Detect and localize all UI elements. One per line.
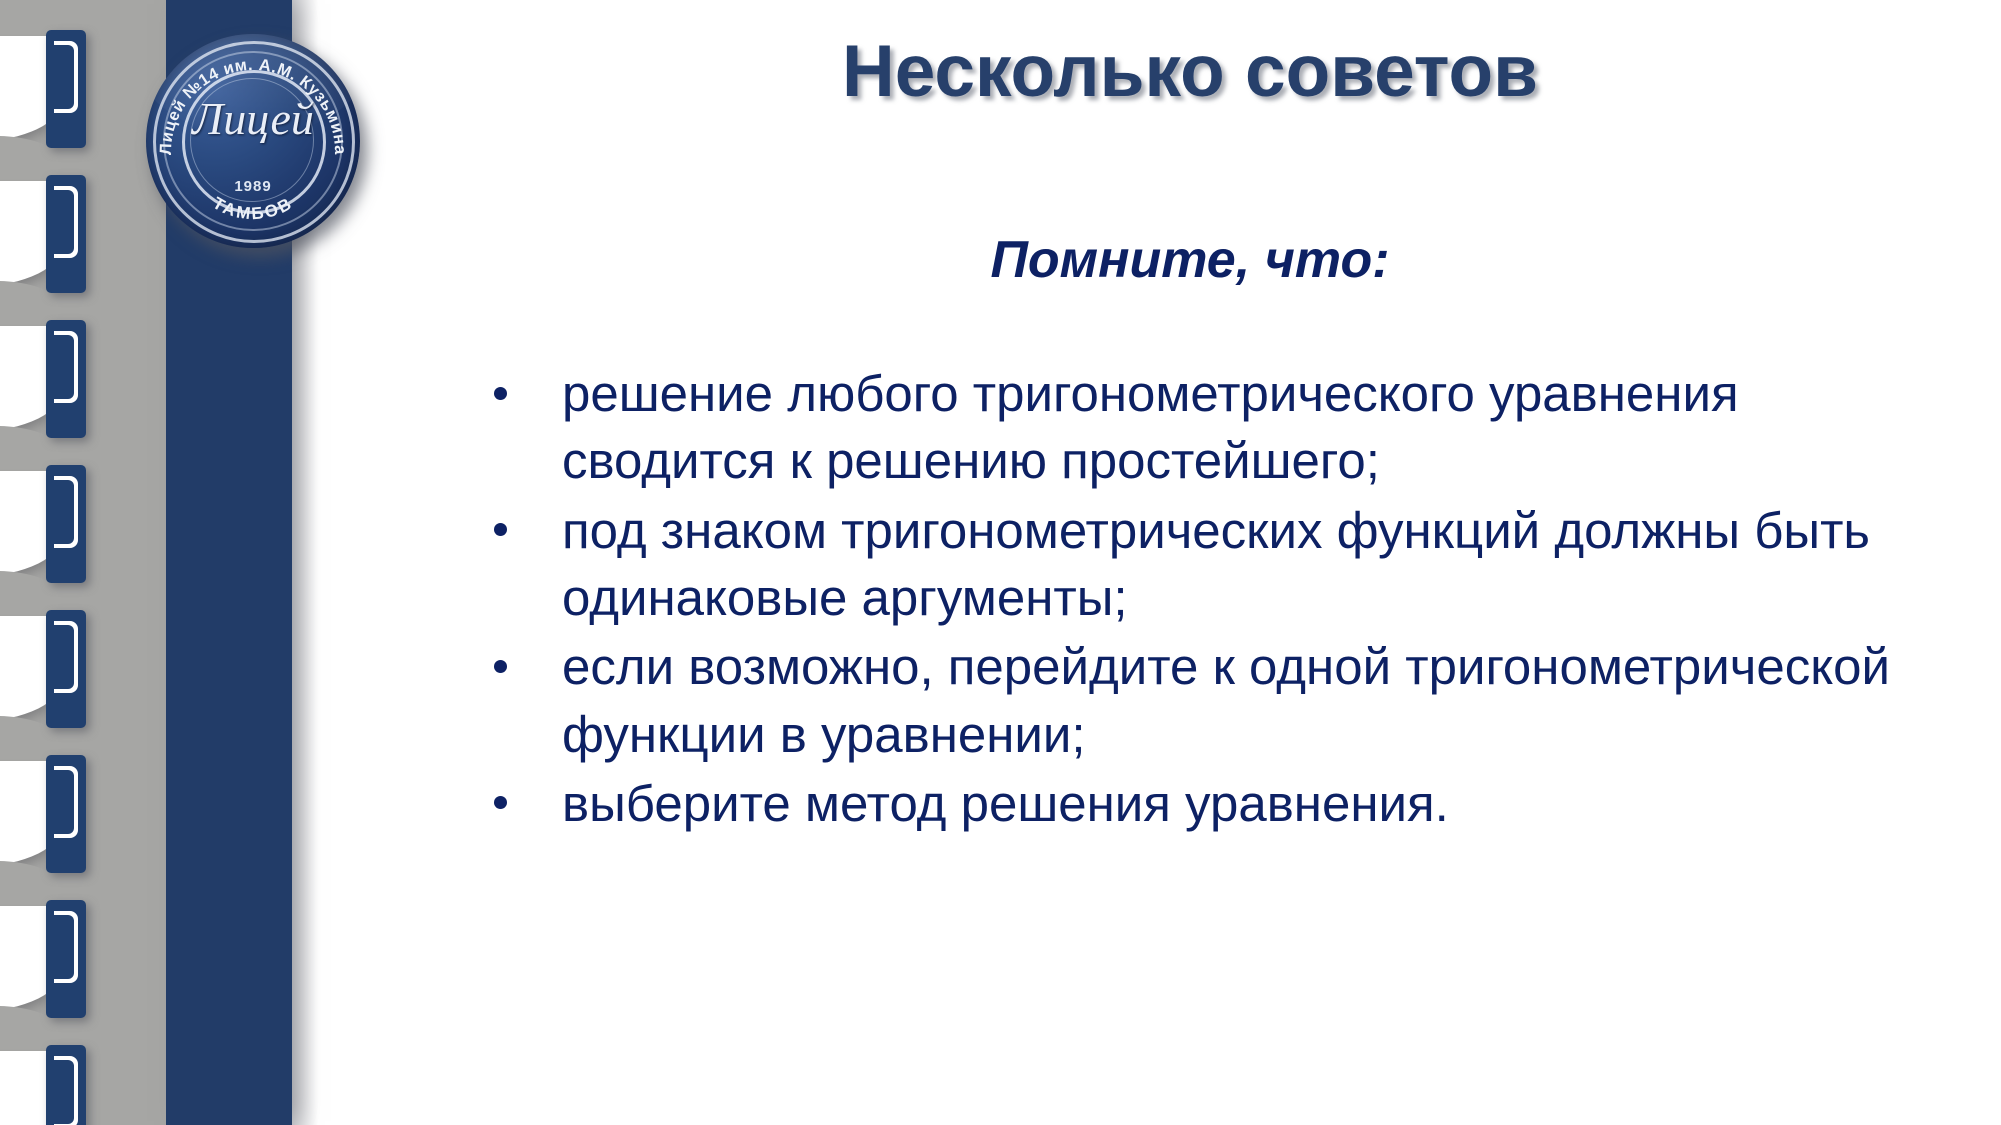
presentation-slide: Лицей №14 им. А.М. Кузьмина ТАМБОВ Лицей… bbox=[0, 0, 2001, 1125]
list-item-text: под знаком тригонометрических функций до… bbox=[562, 502, 1870, 626]
list-item-text: если возможно, перейдите к одной тригоно… bbox=[562, 638, 1890, 762]
binding-ring-icon bbox=[0, 181, 92, 285]
binding-ring-icon bbox=[0, 761, 92, 865]
binding-ring-icon bbox=[0, 906, 92, 1010]
list-item-text: выберите метод решения уравнения. bbox=[562, 775, 1449, 832]
list-item: решение любого тригонометрического уравн… bbox=[478, 360, 1898, 495]
emblem-script-word: Лицей bbox=[146, 96, 360, 142]
emblem-year: 1989 bbox=[146, 178, 360, 195]
list-item: если возможно, перейдите к одной тригоно… bbox=[478, 633, 1898, 768]
bullet-dot-icon bbox=[494, 387, 507, 400]
emblem-bottom-text: ТАМБОВ bbox=[210, 193, 297, 223]
bullet-dot-icon bbox=[494, 796, 507, 809]
binding-ring-icon bbox=[0, 1051, 92, 1125]
binding-ring-icon bbox=[0, 616, 92, 720]
binding-ring-icon bbox=[0, 326, 92, 430]
binding-rings bbox=[0, 0, 166, 1125]
binding-ring-icon bbox=[0, 36, 92, 140]
advice-bullet-list: решение любого тригонометрического уравн… bbox=[478, 360, 1898, 839]
bullet-dot-icon bbox=[494, 660, 507, 673]
binding-ring-icon bbox=[0, 471, 92, 575]
slide-title: Несколько советов bbox=[660, 34, 1720, 111]
slide-subtitle: Помните, что: bbox=[660, 232, 1720, 289]
list-item: под знаком тригонометрических функций до… bbox=[478, 497, 1898, 632]
list-item: выберите метод решения уравнения. bbox=[478, 770, 1898, 837]
school-emblem-logo: Лицей №14 им. А.М. Кузьмина ТАМБОВ Лицей… bbox=[146, 34, 360, 248]
bullet-dot-icon bbox=[494, 523, 507, 536]
list-item-text: решение любого тригонометрического уравн… bbox=[562, 365, 1739, 489]
